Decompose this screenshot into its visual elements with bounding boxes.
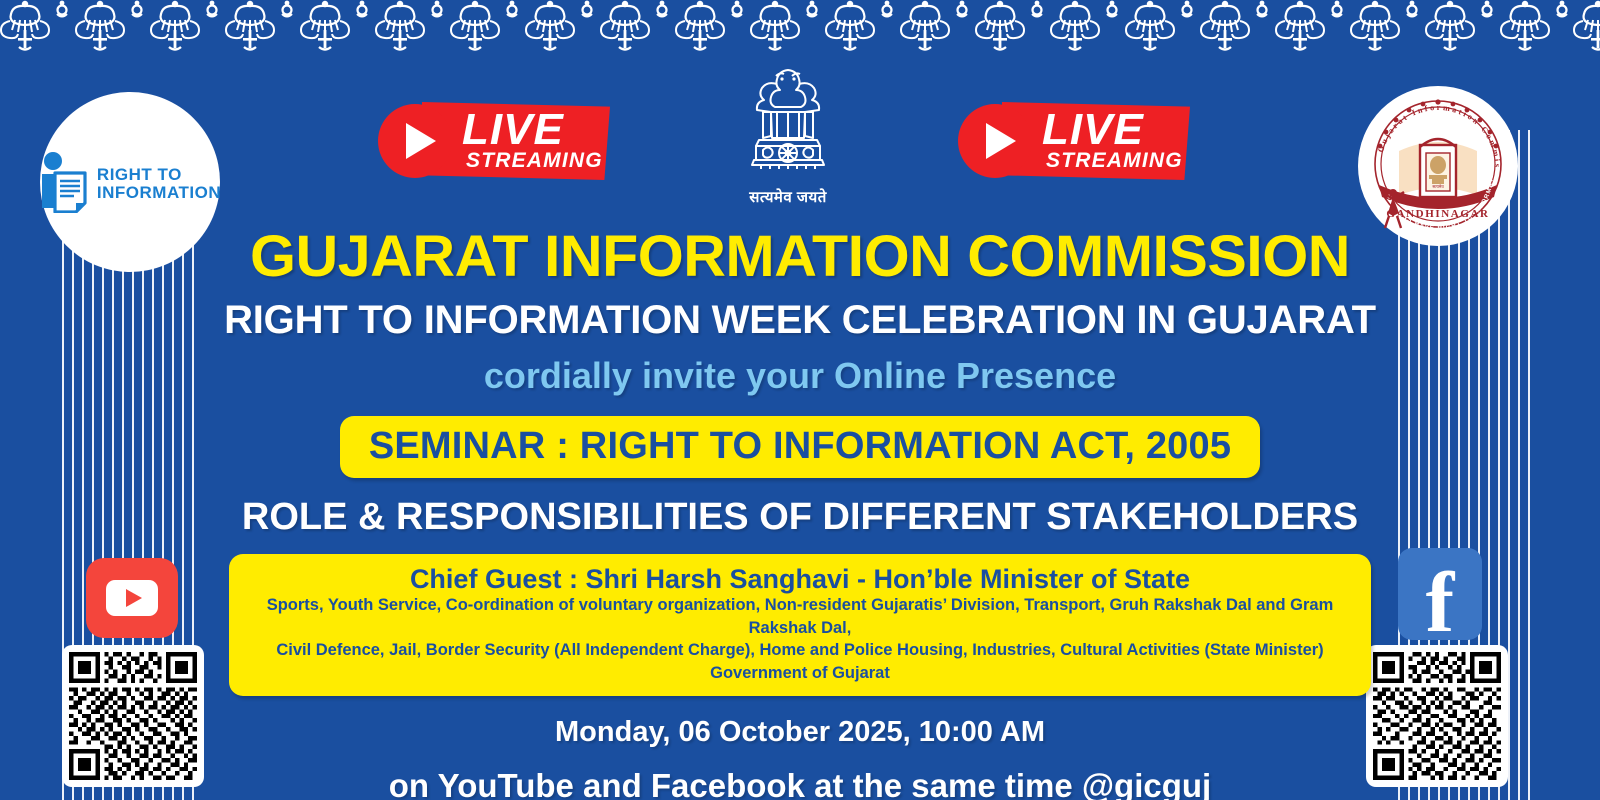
event-datetime: Monday, 06 October 2025, 10:00 AM [200, 718, 1400, 747]
invitation-line: cordially invite your Online Presence [200, 358, 1400, 394]
seminar-topic: ROLE & RESPONSIBILITIES OF DIFFERENT STA… [200, 498, 1400, 536]
seminar-title: SEMINAR : RIGHT TO INFORMATION ACT, 2005 [340, 427, 1260, 465]
svg-text:GANDHINAGAR: GANDHINAGAR [1386, 208, 1489, 220]
rti-label-line1: RIGHT TO [97, 165, 182, 184]
occasion-subtitle: RIGHT TO INFORMATION WEEK CELEBRATION IN… [200, 300, 1400, 340]
youtube-icon[interactable] [86, 558, 178, 638]
main-content-column: GUJARAT INFORMATION COMMISSION RIGHT TO … [200, 0, 1400, 800]
chief-guest-box: Chief Guest : Shri Harsh Sanghavi - Hon’… [229, 554, 1371, 696]
youtube-qr-code[interactable] [62, 645, 204, 787]
seminar-banner: SEMINAR : RIGHT TO INFORMATION ACT, 2005 [340, 416, 1260, 478]
chief-guest-portfolio-2: Civil Defence, Jail, Border Security (Al… [239, 639, 1361, 661]
event-invitation-poster: RIGHT TO INFORMATION [0, 0, 1600, 800]
svg-text:सत्यमेव: सत्यमेव [1432, 184, 1444, 189]
organisation-title: GUJARAT INFORMATION COMMISSION [188, 228, 1412, 286]
chief-guest-government: Government of Gujarat [239, 662, 1361, 684]
play-icon [126, 589, 142, 607]
facebook-icon[interactable]: f [1398, 548, 1482, 640]
chief-guest-portfolio-1: Sports, Youth Service, Co-ordination of … [239, 594, 1361, 639]
chief-guest-title: Chief Guest : Shri Harsh Sanghavi - Hon’… [239, 564, 1361, 594]
decorative-top-border [0, 0, 1600, 52]
event-channels: on YouTube and Facebook at the same time… [200, 769, 1400, 800]
youtube-play-field [106, 580, 158, 616]
right-to-information-icon [39, 151, 91, 218]
facebook-letter: f [1426, 567, 1455, 638]
